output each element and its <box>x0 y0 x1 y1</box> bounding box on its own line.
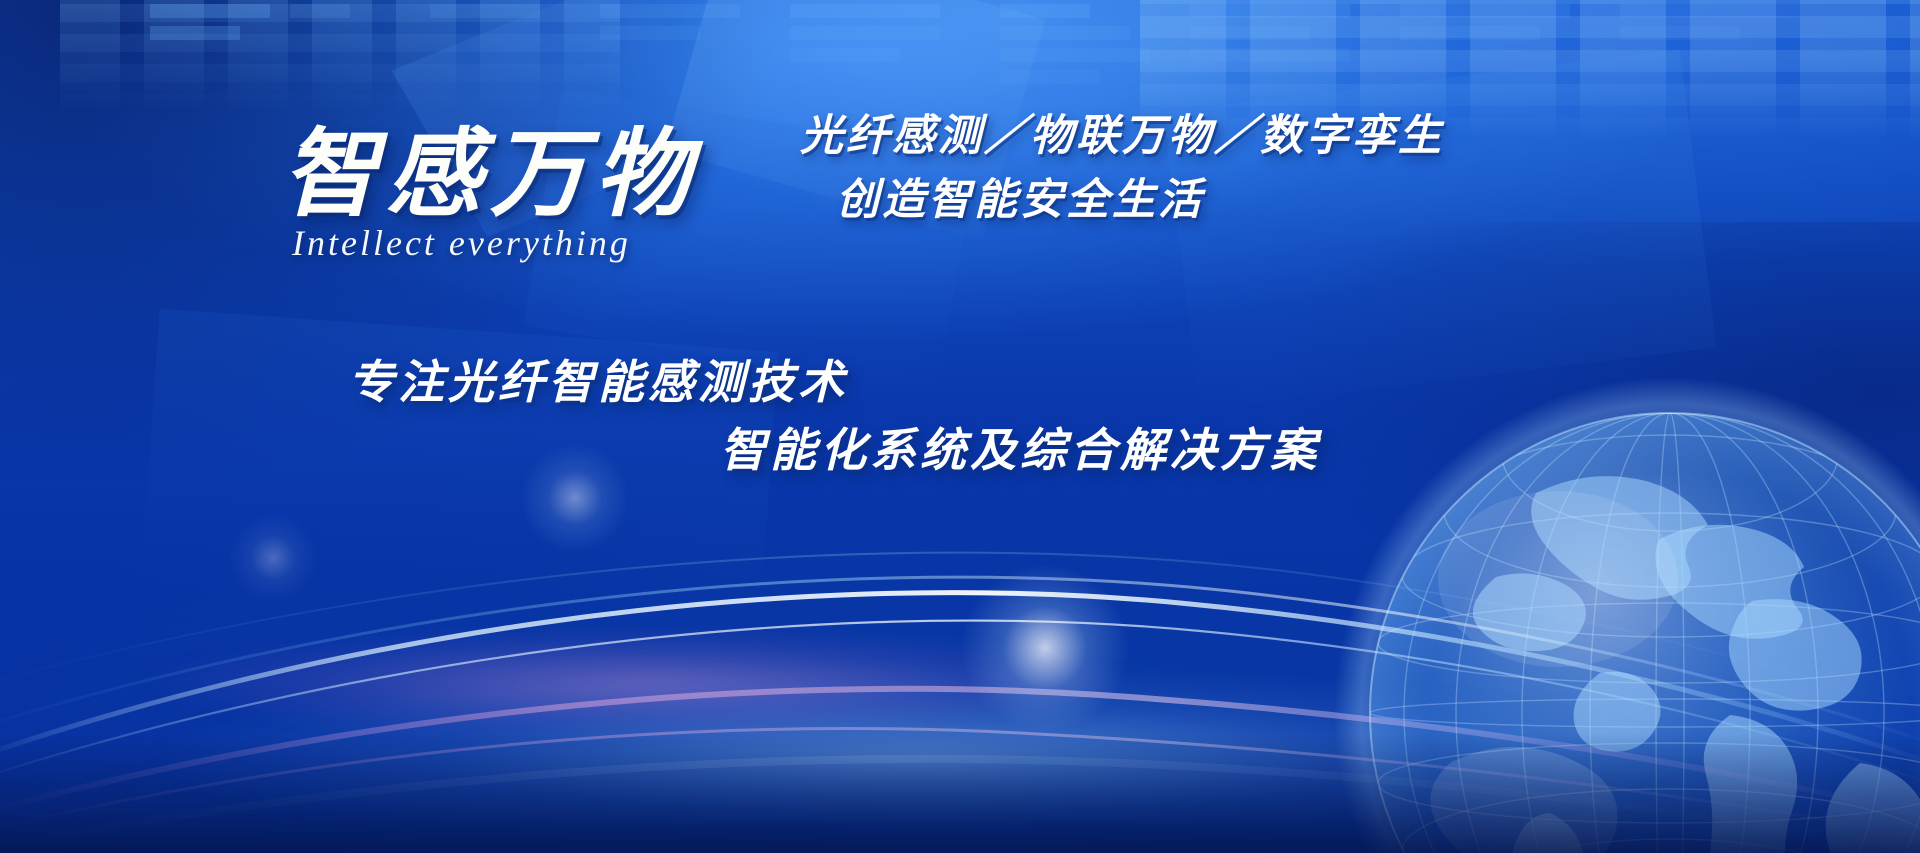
headline-chinese: 智感万物 <box>282 96 698 235</box>
tagline-line-1: 光纤感测／物联万物／数字孪生 <box>800 111 1444 161</box>
headline-english: Intellect everything <box>292 222 631 264</box>
marketing-banner: 智感万物 Intellect everything 光纤感测／物联万物／数字孪生… <box>0 0 1920 853</box>
tagline-line-2: 创造智能安全生活 <box>800 168 1444 232</box>
subline-1: 专注光纤智能感测技术 <box>348 346 848 412</box>
banner-content: 智感万物 Intellect everything 光纤感测／物联万物／数字孪生… <box>0 0 1920 853</box>
tagline-block: 光纤感测／物联万物／数字孪生 创造智能安全生活 <box>800 104 1444 232</box>
subline-2: 智能化系统及综合解决方案 <box>720 414 1320 480</box>
